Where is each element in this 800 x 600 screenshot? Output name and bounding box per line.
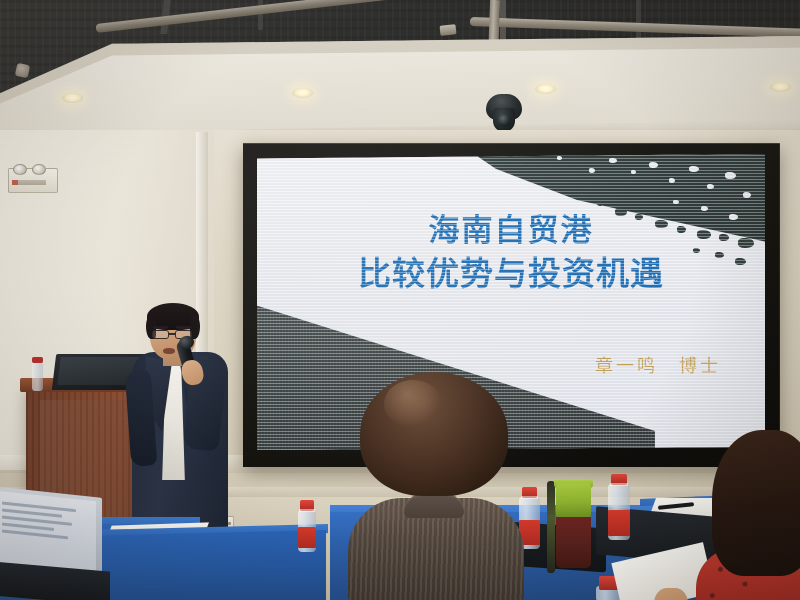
lectern-water-bottle[interactable] [32,361,43,391]
downlight-icon [292,88,313,98]
front-table-cloth [96,530,326,600]
downlight-icon [62,93,83,103]
downlight-icon [770,82,791,92]
emergency-light-label [12,180,46,185]
emergency-lamp [13,164,27,175]
eyeglasses-icon [152,330,169,339]
lectern-bottle-cap [32,357,43,363]
water-bottle-icon[interactable] [608,474,630,540]
pipe-collar [440,24,457,36]
emergency-lamp [32,164,46,175]
presenter-mouth [163,348,175,354]
audience-member-center [346,372,524,600]
slide-title-line1: 海南自贸港 [257,210,765,252]
audience-member-right [700,430,800,600]
sprinkler-head-icon [15,63,30,78]
slide-presenter-name: 章一鸣 博士 [595,352,721,378]
eyeglasses-bridge [169,333,175,335]
ceiling-beam [636,0,641,40]
audience-hair [712,430,800,576]
slide-title-line2: 比较优势与投资机遇 [257,252,765,296]
conference-photo-scene: 海南自贸港 比较优势与投资机遇 章一鸣 博士 [0,0,800,600]
water-bottle-icon[interactable] [298,500,316,552]
audience-hair-highlight [384,380,442,428]
slide-title: 海南自贸港 比较优势与投资机遇 [257,210,765,296]
camera-lens [498,114,511,127]
green-travel-tumbler-icon[interactable] [556,483,591,568]
presenter-eyebrow [176,326,191,329]
presenter-eyebrow [153,326,168,329]
audience-collar [404,494,464,518]
downlight-icon [535,84,556,94]
